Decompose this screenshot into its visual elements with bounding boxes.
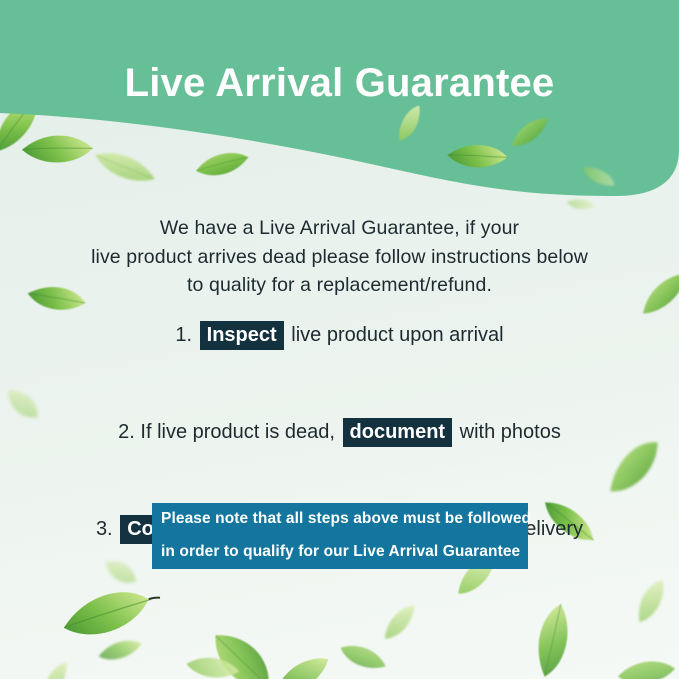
step-item-2: 2. If live product is dead, document wit… xyxy=(0,417,679,459)
step-2-text-before: If live product is dead, xyxy=(140,421,335,443)
steps-list: 1. Inspect live product upon arrival 2. … xyxy=(0,320,679,446)
step-item-1: 1. Inspect live product upon arrival xyxy=(0,320,679,362)
live-arrival-guarantee-poster: Live Arrival Guarantee xyxy=(0,0,679,679)
intro-line-3: to quality for a replacement/refund. xyxy=(60,271,619,300)
page-title: Live Arrival Guarantee xyxy=(0,55,679,111)
intro-line-1: We have a Live Arrival Guarantee, if you… xyxy=(60,214,619,243)
note-banner-line-1: Please note that all steps above must be… xyxy=(152,503,528,536)
note-banner-line-2: in order to qualify for our Live Arrival… xyxy=(152,536,528,569)
intro-line-2: live product arrives dead please follow … xyxy=(60,243,619,272)
step-2-text-after: with photos xyxy=(460,421,561,443)
step-3-number: 3. xyxy=(96,518,113,540)
step-2-highlight-document[interactable]: document xyxy=(343,418,453,447)
step-1-highlight-inspect[interactable]: Inspect xyxy=(200,321,284,350)
step-2-number: 2. xyxy=(118,421,135,443)
intro-paragraph: We have a Live Arrival Guarantee, if you… xyxy=(60,214,619,300)
step-1-text-after: live product upon arrival xyxy=(291,324,503,346)
step-1-number: 1. xyxy=(175,324,192,346)
